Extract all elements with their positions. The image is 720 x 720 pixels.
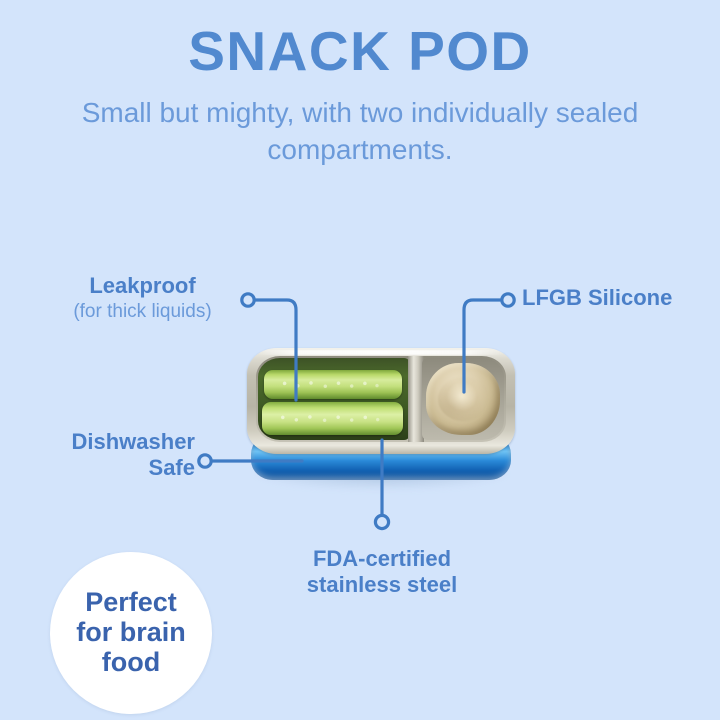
- cucumber-stick-top: [264, 370, 402, 399]
- callout-leakproof-title: Leakproof: [50, 273, 235, 299]
- page-subtitle: Small but mighty, with two individually …: [60, 94, 660, 168]
- cucumber-stick-bottom: [262, 402, 403, 435]
- connector-dot-fda: [375, 515, 388, 528]
- callout-fda-title: FDA-certifiedstainless steel: [282, 546, 482, 597]
- tray-rim-highlight: [257, 350, 505, 355]
- compartment-cucumber: [258, 358, 410, 440]
- callout-dishwasher-title: DishwasherSafe: [40, 429, 195, 480]
- cucumber-seeds: [276, 413, 389, 425]
- connector-dot-lfgb: [502, 294, 514, 306]
- connector-dot-leakproof: [242, 294, 254, 306]
- callout-fda-stainless: FDA-certifiedstainless steel: [282, 546, 482, 597]
- page-title: SNACK POD: [0, 22, 720, 81]
- callout-leakproof-subtitle: (for thick liquids): [50, 301, 235, 323]
- callout-lfgb-title: LFGB Silicone: [522, 285, 712, 311]
- infographic-canvas: SNACK POD Small but mighty, with two ind…: [0, 0, 720, 720]
- badge-perfect-for-brain-food: Perfectfor brainfood: [50, 552, 212, 714]
- connector-dot-dishwasher: [199, 455, 211, 467]
- callout-leakproof: Leakproof (for thick liquids): [50, 273, 235, 323]
- badge-label: Perfectfor brainfood: [76, 587, 186, 680]
- hummus-dip: [426, 363, 500, 435]
- callout-dishwasher-safe: DishwasherSafe: [40, 429, 195, 480]
- product-image-snack-pod: [247, 348, 515, 488]
- stainless-steel-tray: [247, 348, 515, 454]
- callout-lfgb-silicone: LFGB Silicone: [522, 285, 712, 311]
- hummus-swirl: [438, 377, 488, 421]
- cucumber-seeds: [278, 379, 388, 389]
- tray-inner-well: [256, 356, 506, 442]
- compartment-hummus: [422, 358, 504, 440]
